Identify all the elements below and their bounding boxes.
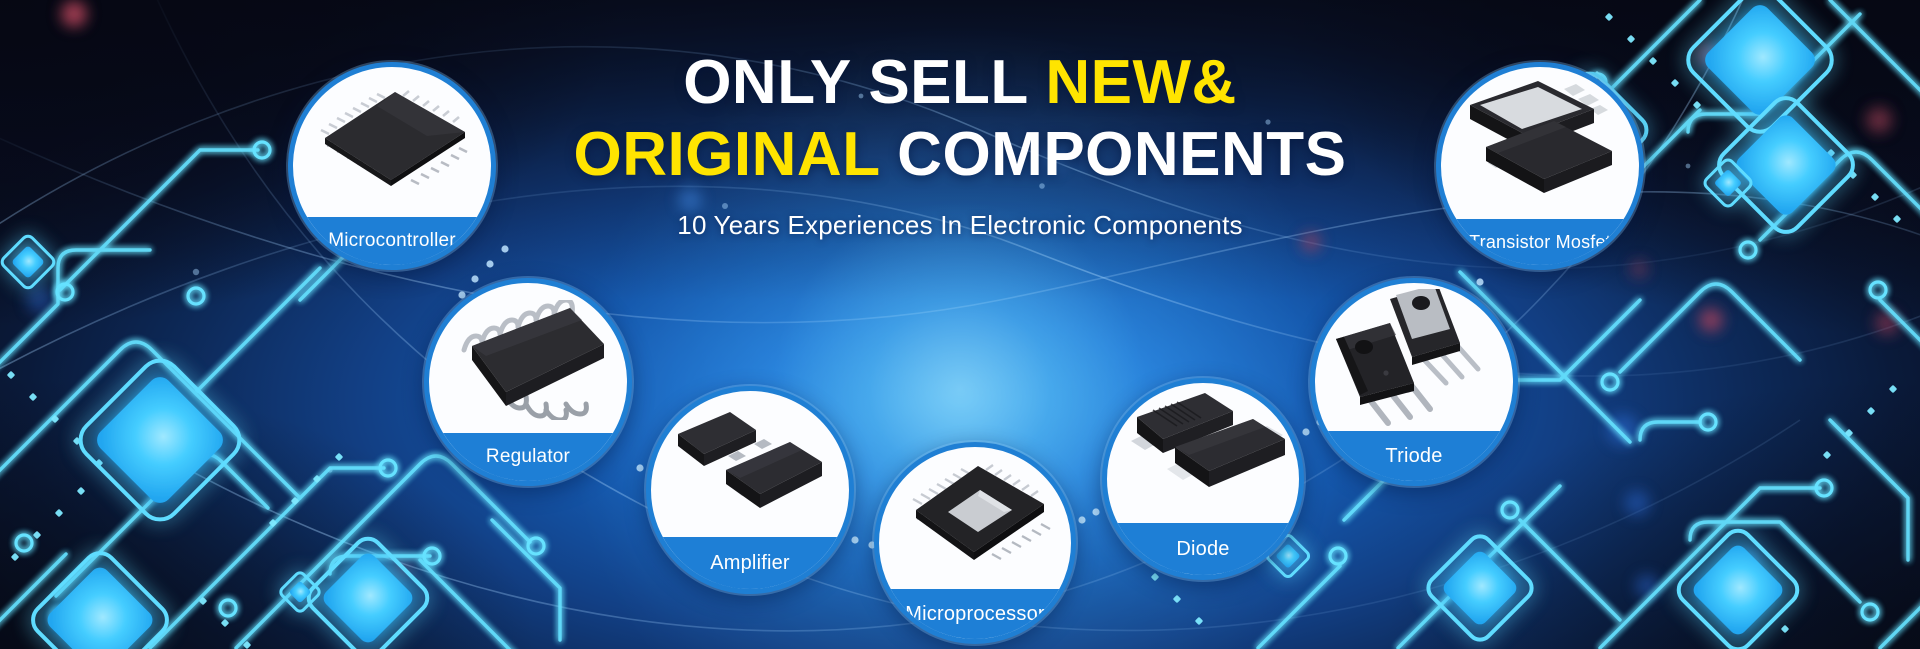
product-label-band: Microcontroller xyxy=(293,217,491,265)
product-circle-diode[interactable]: Diode xyxy=(1102,378,1304,580)
headline-line-2: ORIGINAL COMPONENTS xyxy=(510,124,1410,186)
headline-line-1: ONLY SELL NEW& xyxy=(510,52,1410,114)
product-label-diode: Diode xyxy=(1176,538,1229,561)
product-circle-amplifier[interactable]: Amplifier xyxy=(646,386,854,594)
product-label-band: Regulator xyxy=(429,433,627,481)
product-circle-regulator[interactable]: Regulator xyxy=(424,278,632,486)
product-label-mosfet: Transistor Mosfet xyxy=(1469,232,1611,253)
product-label-band: Diode xyxy=(1107,523,1299,575)
headline-block: ONLY SELL NEW& ORIGINAL COMPONENTS 10 Ye… xyxy=(510,52,1410,241)
product-label-amplifier: Amplifier xyxy=(710,552,790,575)
to247-transistor-icon xyxy=(1315,283,1513,435)
product-label-band: Transistor Mosfet xyxy=(1441,219,1639,265)
product-label-microprocessor: Microprocessor xyxy=(905,603,1045,626)
product-label-microcontroller: Microcontroller xyxy=(328,230,456,252)
product-circle-microprocessor[interactable]: Microprocessor xyxy=(874,442,1076,644)
product-label-triode: Triode xyxy=(1385,445,1442,468)
headline-line1-yellow: NEW& xyxy=(1045,48,1236,117)
headline-line2-white: COMPONENTS xyxy=(897,120,1346,189)
sop-package-icon xyxy=(429,283,627,437)
product-circle-mosfet[interactable]: Transistor Mosfet xyxy=(1436,62,1644,270)
qfp-die-chip-icon xyxy=(879,447,1071,593)
product-label-regulator: Regulator xyxy=(486,446,570,468)
product-circle-microcontroller[interactable]: Microcontroller xyxy=(288,62,496,270)
product-label-band: Microprocessor xyxy=(879,589,1071,639)
headline-line2-yellow: ORIGINAL xyxy=(573,120,897,189)
promo-banner: ONLY SELL NEW& ORIGINAL COMPONENTS 10 Ye… xyxy=(0,0,1920,649)
headline-line1-white: ONLY SELL xyxy=(683,48,1045,117)
product-label-band: Amplifier xyxy=(651,537,849,589)
product-circle-triode[interactable]: Triode xyxy=(1310,278,1518,486)
qfp-chip-icon xyxy=(293,67,491,221)
sot23-package-icon xyxy=(651,391,849,541)
headline-subtitle: 10 Years Experiences In Electronic Compo… xyxy=(510,210,1410,241)
product-label-band: Triode xyxy=(1315,431,1513,481)
dfn-mosfet-icon xyxy=(1441,67,1639,223)
sod-diode-icon xyxy=(1107,383,1299,527)
